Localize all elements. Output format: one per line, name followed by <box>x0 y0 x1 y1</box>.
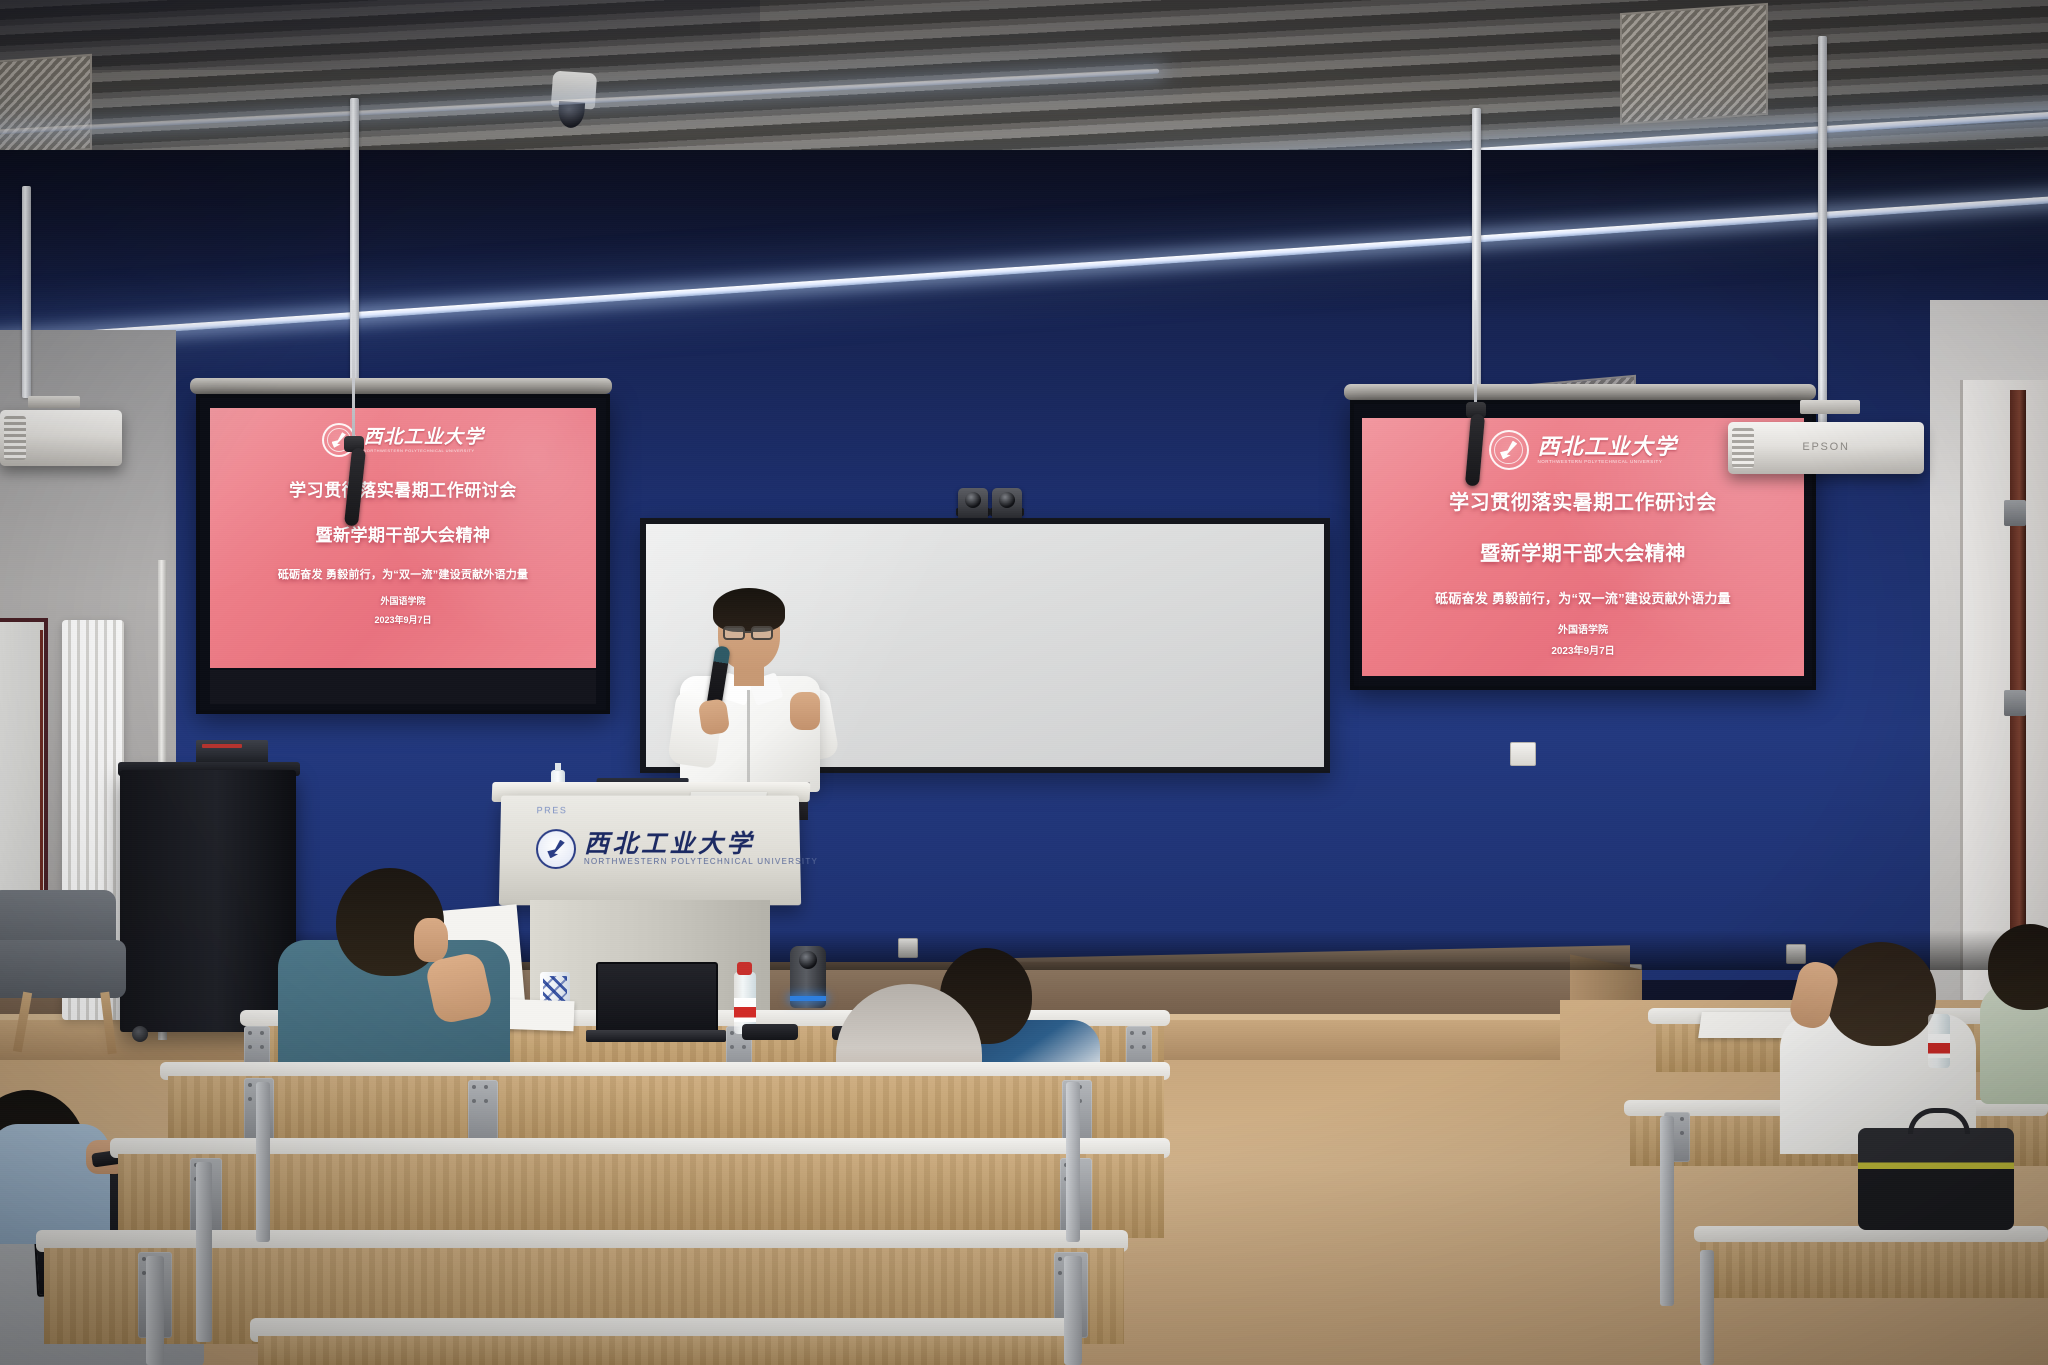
slide-date: 2023年9月7日 <box>1551 642 1614 657</box>
podium: PRES 西北工业大学 NORTHWESTERN POLYTECHNICAL U… <box>499 796 801 906</box>
speaker-hair <box>713 588 785 632</box>
hvac-vent-icon <box>0 54 92 158</box>
projector-support-rod <box>22 186 31 398</box>
ptz-camera-icon <box>992 488 1022 520</box>
wall-top-shadow <box>0 150 2048 320</box>
slide-subtitle: 砥砺奋发 勇毅前行，为“双一流”建设贡献外语力量 <box>1435 588 1731 607</box>
hvac-vent-icon <box>1620 3 1768 125</box>
bench-leg <box>196 1162 212 1342</box>
university-wordmark-en: NORTHWESTERN POLYTECHNICAL UNIVERSITY <box>1537 460 1677 465</box>
bench-leg <box>256 1082 270 1242</box>
bench-bracket <box>468 1080 498 1146</box>
eyeglasses-bridge <box>744 631 753 633</box>
smartphone[interactable] <box>742 1024 798 1040</box>
right-projector: EPSON <box>1728 422 1924 474</box>
speaker-right-hand <box>790 692 820 730</box>
bench-leg <box>1066 1082 1080 1242</box>
bench-leg <box>146 1256 164 1365</box>
rack-caster <box>132 1026 148 1042</box>
conference-speakerphone[interactable] <box>790 946 826 1008</box>
bench-backrest <box>118 1154 1164 1238</box>
laptop-screen[interactable] <box>596 962 718 1034</box>
podium-brand-label: PRES <box>537 805 568 815</box>
attendee-white-tee-head <box>1826 942 1936 1046</box>
slide-org: 外国语学院 <box>380 594 425 607</box>
lecture-hall-photo: 西北工业大学 NORTHWESTERN POLYTECHNICAL UNIVER… <box>0 0 2048 1365</box>
left-projection-screen: 西北工业大学 NORTHWESTERN POLYTECHNICAL UNIVER… <box>196 394 610 714</box>
bench-backrest <box>258 1336 1068 1365</box>
slide-title-line-2: 暨新学期干部大会精神 <box>1480 537 1686 566</box>
university-wordmark-cn: 西北工业大学 <box>363 428 484 447</box>
eyeglasses-icon <box>723 626 745 640</box>
desk-leg <box>1700 1250 1714 1365</box>
left-projector <box>0 410 122 466</box>
projector-brand-label: EPSON <box>1728 441 1924 453</box>
wall-plate <box>1510 742 1536 766</box>
bench-leg <box>1064 1256 1082 1365</box>
podium-logo-en: NORTHWESTERN POLYTECHNICAL UNIVERSITY <box>584 857 818 866</box>
ptz-camera-icon <box>958 488 988 520</box>
slide-subtitle: 砥砺奋发 勇毅前行，为“双一流”建设贡献外语力量 <box>278 566 528 582</box>
slide-title-line-1: 学习贯彻落实暑期工作研讨会 <box>1449 486 1717 515</box>
door-hinge-icon <box>2004 690 2026 716</box>
attendee-teal-polo-ear <box>414 918 448 962</box>
university-seal-icon <box>536 829 577 869</box>
university-wordmark-cn: 西北工业大学 <box>1537 436 1677 458</box>
water-bottle <box>1928 1014 1950 1068</box>
speaker-shirt-placket <box>747 690 750 790</box>
av-equipment-rack <box>120 770 296 1032</box>
slide-title-line-2: 暨新学期干部大会精神 <box>315 521 490 546</box>
cable <box>40 630 43 930</box>
projector-vent-icon <box>4 416 26 460</box>
podium-logo-cn: 西北工业大学 <box>584 832 818 857</box>
screen-letterbox <box>210 670 596 704</box>
slide-org: 外国语学院 <box>1558 621 1608 636</box>
left-screen-roller <box>190 378 612 394</box>
desk-row <box>1700 1238 2048 1298</box>
ceiling-shadow-left <box>0 0 760 70</box>
right-projector-mount <box>1800 400 1860 414</box>
university-wordmark-en: NORTHWESTERN POLYTECHNICAL UNIVERSITY <box>363 449 484 453</box>
handbag <box>1858 1128 2014 1230</box>
bottle-label <box>734 998 756 1022</box>
left-slide: 西北工业大学 NORTHWESTERN POLYTECHNICAL UNIVER… <box>210 408 596 668</box>
grey-armchair-seat[interactable] <box>0 940 126 998</box>
eyeglasses-icon <box>751 626 773 640</box>
speaker-left-hand <box>698 698 730 736</box>
mic-cable <box>352 300 355 440</box>
university-seal-icon <box>1489 430 1529 470</box>
door-hinge-icon <box>2004 500 2026 526</box>
slide-title-line-1: 学习贯彻落实暑期工作研讨会 <box>289 476 517 501</box>
bottle-label <box>1928 1034 1950 1058</box>
slide-date: 2023年9月7日 <box>374 613 431 626</box>
desk-leg <box>1660 1116 1674 1306</box>
handout-papers <box>499 999 574 1032</box>
mic-cable <box>1474 300 1477 406</box>
right-screen-roller <box>1344 384 1816 400</box>
podium-logo: 西北工业大学 NORTHWESTERN POLYTECHNICAL UNIVER… <box>536 829 819 869</box>
left-projector-mount <box>28 396 80 408</box>
projector-support-rod <box>1818 36 1827 428</box>
laptop-base[interactable] <box>586 1030 726 1042</box>
bottle-cap <box>737 962 752 975</box>
